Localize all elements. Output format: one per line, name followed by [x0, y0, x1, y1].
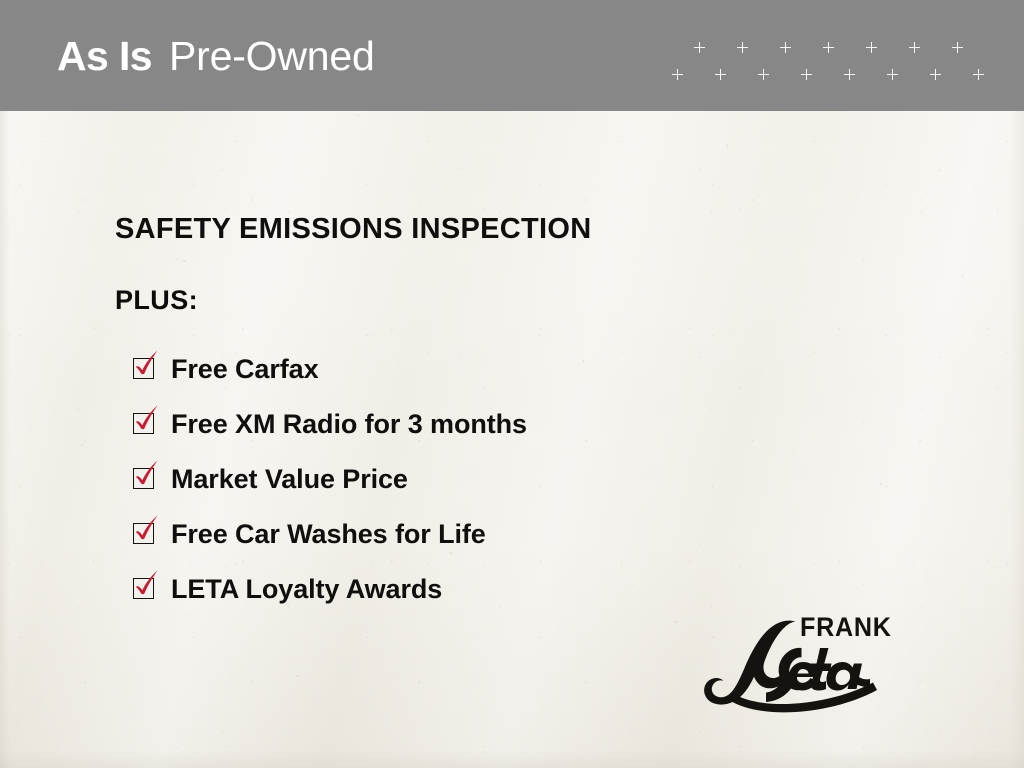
plus-row-top [672, 42, 1024, 56]
plus-icon [672, 69, 683, 80]
plus-icon [844, 69, 855, 80]
checkbox-square [133, 358, 154, 379]
list-item: Free XM Radio for 3 months [133, 397, 833, 452]
plus-icon [909, 42, 920, 53]
page-title-bold: As Is [57, 36, 152, 77]
plus-sign-pattern [672, 42, 1012, 90]
plus-icon [887, 69, 898, 80]
list-item: Free Carfax [133, 342, 833, 397]
checkbox-checked [133, 578, 156, 601]
plus-icon [930, 69, 941, 80]
plus-icon [737, 42, 748, 53]
logo-leta-script [699, 608, 914, 720]
checkbox-checked [133, 468, 156, 491]
list-item-label: LETA Loyalty Awards [171, 576, 442, 603]
plus-icon [758, 69, 769, 80]
checkbox-checked [133, 358, 156, 381]
plus-icon [866, 42, 877, 53]
plus-icon [973, 69, 984, 80]
list-item-label: Free XM Radio for 3 months [171, 411, 527, 438]
plus-icon [694, 42, 705, 53]
list-item-label: Market Value Price [171, 466, 408, 493]
plus-icon [780, 42, 791, 53]
checkbox-checked [133, 413, 156, 436]
benefits-checklist: Free Carfax Free XM Radio for 3 months [133, 342, 833, 617]
plus-icon [715, 69, 726, 80]
slide-content: SAFETY EMISSIONS INSPECTION PLUS: Free C… [0, 0, 1024, 768]
list-item-label: Free Carfax [171, 356, 318, 383]
checkbox-checked [133, 523, 156, 546]
plus-label: PLUS: [115, 285, 198, 316]
checkbox-square [133, 523, 154, 544]
page-title: As Is Pre-Owned [57, 36, 375, 77]
plus-row-bottom [672, 69, 1012, 83]
frank-leta-logo: FRANK [699, 608, 914, 720]
list-item: Free Car Washes for Life [133, 507, 833, 562]
headline-safety-emissions-inspection: SAFETY EMISSIONS INSPECTION [115, 213, 591, 246]
page-title-light: Pre-Owned [169, 36, 375, 77]
plus-icon [952, 42, 963, 53]
checkbox-square [133, 468, 154, 489]
checkbox-square [133, 413, 154, 434]
header-band: As Is Pre-Owned [0, 0, 1024, 111]
list-item: Market Value Price [133, 452, 833, 507]
checkbox-square [133, 578, 154, 599]
plus-icon [823, 42, 834, 53]
slide-canvas: As Is Pre-Owned [0, 0, 1024, 768]
list-item-label: Free Car Washes for Life [171, 521, 486, 548]
plus-icon [801, 69, 812, 80]
